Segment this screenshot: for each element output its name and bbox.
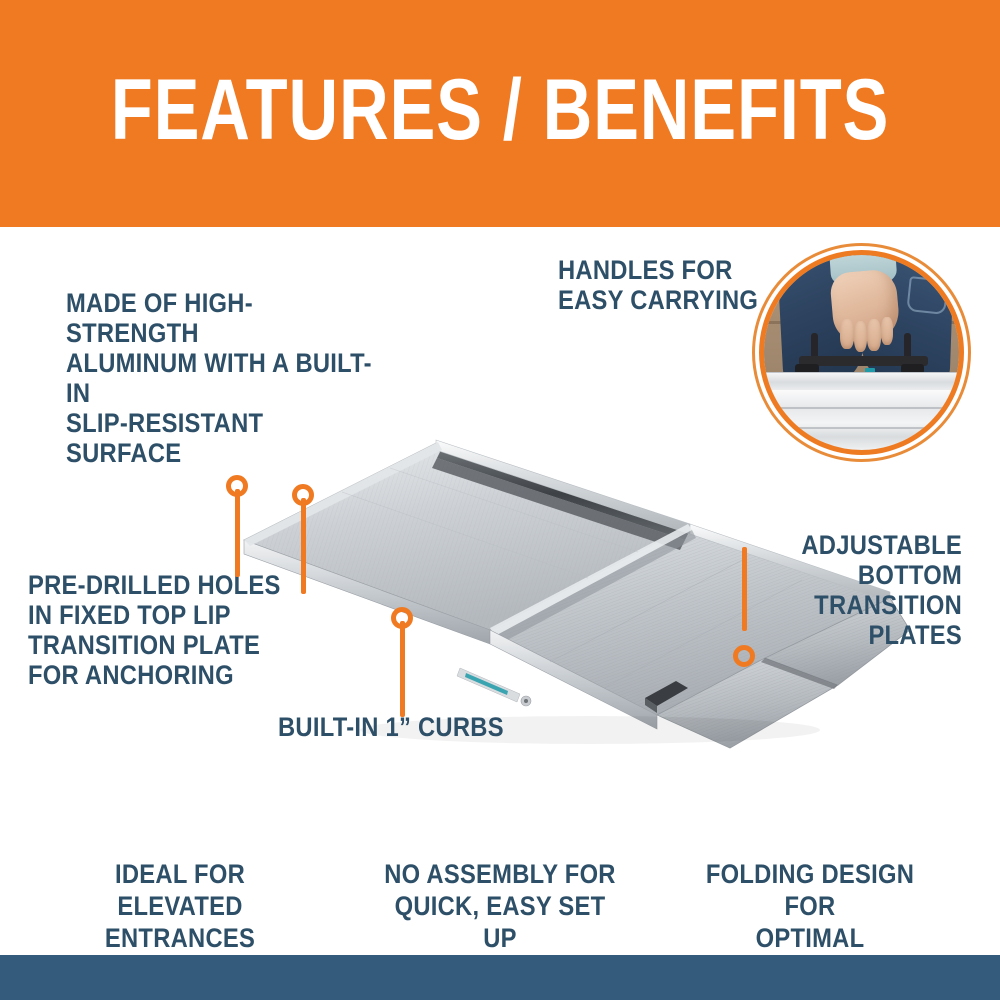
callout-label-handles: HANDLES FOR EASY CARRYING bbox=[558, 255, 787, 315]
callout-ring-icon bbox=[292, 484, 314, 506]
callout-label-pre-drilled-holes: PRE-DRILLED HOLES IN FIXED TOP LIP TRANS… bbox=[28, 570, 292, 690]
callout-ring-icon bbox=[391, 607, 413, 629]
callout-stem bbox=[400, 621, 405, 717]
photo-ring-inner bbox=[759, 250, 964, 455]
infographic-page: FEATURES / BENEFITS bbox=[0, 0, 1000, 1000]
callout-ring-icon bbox=[733, 645, 755, 667]
bottom-benefit-no-assembly: NO ASSEMBLY FOR QUICK, EASY SET UP bbox=[381, 858, 619, 954]
callout-stem bbox=[742, 547, 747, 631]
callout-stem bbox=[235, 489, 240, 577]
footer-bar bbox=[0, 955, 1000, 1000]
callout-stem bbox=[301, 498, 306, 594]
header-banner: FEATURES / BENEFITS bbox=[0, 0, 1000, 227]
callout-label-aluminum: MADE OF HIGH-STRENGTH ALUMINUM WITH A BU… bbox=[66, 288, 383, 468]
bottom-benefit-ideal-for-elevated-entrances: IDEAL FOR ELEVATED ENTRANCES bbox=[61, 858, 299, 954]
callout-label-curbs: BUILT-IN 1” CURBS bbox=[278, 712, 507, 742]
page-title: FEATURES / BENEFITS bbox=[100, 62, 900, 158]
callout-label-transition-plates: ADJUSTABLE BOTTOM TRANSITION PLATES bbox=[731, 530, 962, 650]
callout-ring-icon bbox=[226, 475, 248, 497]
